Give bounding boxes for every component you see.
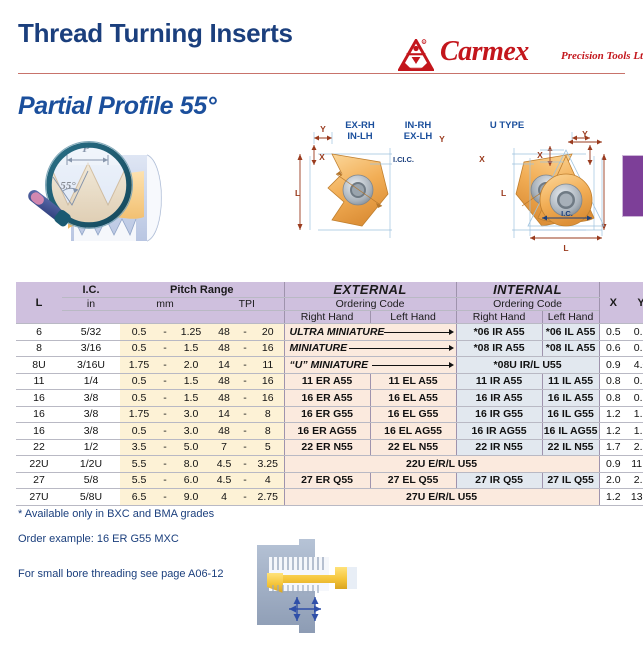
- diagram-title-in-rh-ex-lh: IN-RH EX-LH: [392, 120, 444, 142]
- cell-pitch-tpi-from: 48: [210, 390, 238, 407]
- cell-pitch-mm-dash: -: [158, 390, 172, 407]
- th-external-ordering-code: Ordering Code: [284, 298, 456, 311]
- cell-l: 16: [16, 390, 62, 407]
- page-header: Thread Turning Inserts R Carmex Precisio…: [0, 18, 643, 66]
- cell-pitch-tpi-to: 11: [252, 357, 284, 374]
- cell-internal-left-hand: 11 IL A55: [542, 373, 599, 390]
- cell-internal-left-hand: 22 IL N55: [542, 439, 599, 456]
- cell-pitch-mm-to: 2.0: [172, 357, 210, 374]
- table-row: 163/80.5-1.548-1616 ER A5516 EL A5516 IR…: [16, 390, 643, 407]
- cell-external-right-hand: 11 ER A55: [284, 373, 370, 390]
- cell-y: 1.7: [627, 406, 643, 423]
- table-row: 27U5/8U6.5-9.04-2.7527U E/R/L U551.213.7: [16, 489, 643, 506]
- cell-x: 0.6: [599, 340, 627, 357]
- cell-all-codes-note: 22U E/R/L U55: [284, 456, 599, 473]
- cell-l: 22: [16, 439, 62, 456]
- cell-internal-right-hand: 16 IR A55: [456, 390, 542, 407]
- table-row: 163/80.5-3.048-816 ER AG5516 EL AG5516 I…: [16, 423, 643, 440]
- catalog-page: Thread Turning Inserts R Carmex Precisio…: [0, 0, 643, 650]
- th-pitch-mm: mm: [120, 298, 210, 311]
- th-x: X: [599, 282, 627, 324]
- cell-ic: 5/32: [62, 324, 120, 341]
- cell-ic: 3/16U: [62, 357, 120, 374]
- cell-internal-right-hand: 11 IR A55: [456, 373, 542, 390]
- cell-x: 0.8: [599, 373, 627, 390]
- cell-ic: 3/8: [62, 423, 120, 440]
- cell-internal-left-hand: *08 IL A55: [542, 340, 599, 357]
- cell-pitch-tpi-to: 16: [252, 373, 284, 390]
- cell-pitch-tpi-dash: -: [238, 472, 252, 489]
- table-row: 111/40.5-1.548-1611 ER A5511 EL A5511 IR…: [16, 373, 643, 390]
- cell-ic: 3/8: [62, 390, 120, 407]
- cell-ic: 5/8: [62, 472, 120, 489]
- cell-all-codes-note: 27U E/R/L U55: [284, 489, 599, 506]
- cell-internal-left-hand: 16 IL AG55: [542, 423, 599, 440]
- cell-l: 22U: [16, 456, 62, 473]
- cell-ic: 3/16: [62, 340, 120, 357]
- table-header-row-1: L I.C. Pitch Range EXTERNAL INTERNAL X Y: [16, 282, 643, 298]
- cell-pitch-tpi-dash: -: [238, 456, 252, 473]
- svg-text:I.C.: I.C.: [402, 155, 414, 164]
- cell-external-note: “U” MINIATURE: [284, 357, 456, 374]
- cell-y: 4.0: [627, 357, 643, 374]
- cell-external-left-hand: 22 EL N55: [370, 439, 456, 456]
- cell-l: 16: [16, 406, 62, 423]
- header-divider: [18, 73, 625, 74]
- cell-pitch-mm-dash: -: [158, 324, 172, 341]
- cell-external-left-hand: 16 EL G55: [370, 406, 456, 423]
- cell-l: 8U: [16, 357, 62, 374]
- cell-y: 0.7: [627, 340, 643, 357]
- cell-x: 1.2: [599, 406, 627, 423]
- svg-text:X: X: [537, 150, 543, 160]
- th-ext-left-hand: Left Hand: [370, 311, 456, 324]
- svg-text:X: X: [479, 154, 485, 164]
- cell-pitch-mm-to: 6.0: [172, 472, 210, 489]
- svg-text:Y: Y: [320, 124, 326, 134]
- cell-internal-right-hand: *08 IR A55: [456, 340, 542, 357]
- cell-external-left-hand: 27 EL Q55: [370, 472, 456, 489]
- svg-text:Y: Y: [582, 129, 588, 139]
- cell-x: 2.0: [599, 472, 627, 489]
- cell-pitch-mm-dash: -: [158, 472, 172, 489]
- cell-y: 2.5: [627, 439, 643, 456]
- cell-internal-right-hand: 16 IR AG55: [456, 423, 542, 440]
- footnote-small-bore: For small bore threading see page A06-12: [18, 568, 223, 580]
- cell-pitch-mm-to: 9.0: [172, 489, 210, 506]
- cell-x: 0.5: [599, 324, 627, 341]
- cell-internal-right-hand: *06 IR A55: [456, 324, 542, 341]
- cell-pitch-tpi-to: 8: [252, 406, 284, 423]
- cell-pitch-tpi-to: 4: [252, 472, 284, 489]
- cell-pitch-mm-from: 1.75: [120, 357, 158, 374]
- table-row: 65/320.5-1.2548-20ULTRA MINIATURE*06 IR …: [16, 324, 643, 341]
- footnote-grades: * Available only in BXC and BMA grades: [18, 508, 214, 520]
- cell-pitch-tpi-dash: -: [238, 340, 252, 357]
- cell-y: 0.9: [627, 373, 643, 390]
- cell-external-right-hand: 22 ER N55: [284, 439, 370, 456]
- cell-pitch-tpi-to: 2.75: [252, 489, 284, 506]
- cell-pitch-mm-dash: -: [158, 357, 172, 374]
- cell-internal-left-hand: *06 IL A55: [542, 324, 599, 341]
- cell-pitch-mm-to: 1.5: [172, 340, 210, 357]
- cell-pitch-mm-dash: -: [158, 423, 172, 440]
- cell-pitch-tpi-from: 7: [210, 439, 238, 456]
- footnote-order-example: Order example: 16 ER G55 MXC: [18, 533, 179, 545]
- cell-external-right-hand: 16 ER G55: [284, 406, 370, 423]
- cell-pitch-tpi-dash: -: [238, 373, 252, 390]
- cell-y: 0.9: [627, 390, 643, 407]
- cell-pitch-tpi-from: 14: [210, 406, 238, 423]
- diagram-title-u-type: U TYPE: [467, 120, 547, 131]
- cell-pitch-mm-from: 6.5: [120, 489, 158, 506]
- cell-pitch-mm-from: 0.5: [120, 340, 158, 357]
- diagram-title-line1: IN-RH: [405, 120, 431, 131]
- cell-internal-right-hand: 22 IR N55: [456, 439, 542, 456]
- cell-pitch-tpi-from: 4.5: [210, 456, 238, 473]
- cell-x: 0.9: [599, 456, 627, 473]
- cell-pitch-mm-from: 1.75: [120, 406, 158, 423]
- cell-y: 0.6: [627, 324, 643, 341]
- svg-text:R: R: [423, 40, 425, 44]
- cell-pitch-mm-dash: -: [158, 456, 172, 473]
- cell-pitch-tpi-to: 8: [252, 423, 284, 440]
- cell-pitch-tpi-dash: -: [238, 423, 252, 440]
- carmex-logo: R Carmex Precision Tools Ltd.: [398, 38, 626, 72]
- cell-pitch-tpi-dash: -: [238, 357, 252, 374]
- cell-x: 1.2: [599, 423, 627, 440]
- cell-pitch-tpi-from: 48: [210, 423, 238, 440]
- cell-pitch-mm-dash: -: [158, 489, 172, 506]
- diagram-title-line2: EX-LH: [404, 131, 433, 142]
- cell-l: 27: [16, 472, 62, 489]
- cell-external-left-hand: 16 EL A55: [370, 390, 456, 407]
- svg-text:L: L: [563, 243, 568, 253]
- cell-l: 27U: [16, 489, 62, 506]
- svg-text:X: X: [319, 152, 325, 162]
- cell-pitch-tpi-dash: -: [238, 390, 252, 407]
- cell-pitch-tpi-to: 3.25: [252, 456, 284, 473]
- cell-pitch-mm-from: 5.5: [120, 472, 158, 489]
- cell-pitch-mm-to: 1.5: [172, 390, 210, 407]
- cell-external-right-hand: 16 ER AG55: [284, 423, 370, 440]
- th-ic-unit: in: [62, 298, 120, 311]
- section-title: Partial Profile 55°: [18, 92, 216, 121]
- cell-pitch-tpi-to: 16: [252, 390, 284, 407]
- cell-pitch-tpi-dash: -: [238, 439, 252, 456]
- cell-pitch-mm-from: 0.5: [120, 373, 158, 390]
- table-row: 275/85.5-6.04.5-427 ER Q5527 EL Q5527 IR…: [16, 472, 643, 489]
- cell-pitch-mm-to: 1.5: [172, 373, 210, 390]
- cell-external-left-hand: 16 EL AG55: [370, 423, 456, 440]
- th-external: EXTERNAL: [284, 282, 456, 298]
- cell-internal-left-hand: 27 IL Q55: [542, 472, 599, 489]
- cell-pitch-mm-to: 3.0: [172, 406, 210, 423]
- th-internal: INTERNAL: [456, 282, 599, 298]
- table-body: 65/320.5-1.2548-20ULTRA MINIATURE*06 IR …: [16, 324, 643, 506]
- cell-x: 0.8: [599, 390, 627, 407]
- cell-pitch-tpi-dash: -: [238, 324, 252, 341]
- svg-text:L: L: [295, 188, 300, 198]
- cell-internal-note: *08U IR/L U55: [456, 357, 599, 374]
- cell-pitch-tpi-from: 4.5: [210, 472, 238, 489]
- cell-pitch-mm-from: 3.5: [120, 439, 158, 456]
- page-title: Thread Turning Inserts: [18, 18, 293, 49]
- th-pitch-range: Pitch Range: [120, 282, 284, 298]
- cell-y: 1.7: [627, 423, 643, 440]
- cell-pitch-mm-dash: -: [158, 406, 172, 423]
- th-ic: I.C.: [62, 282, 120, 298]
- cell-ic: 5/8U: [62, 489, 120, 506]
- table-header-row-3: Right Hand Left Hand Right Hand Left Han…: [16, 311, 643, 324]
- cell-pitch-tpi-dash: -: [238, 489, 252, 506]
- cell-pitch-mm-to: 8.0: [172, 456, 210, 473]
- table-row: 8U3/16U1.75-2.014-11“U” MINIATURE*08U IR…: [16, 357, 643, 374]
- cell-x: 1.2: [599, 489, 627, 506]
- cell-pitch-mm-dash: -: [158, 340, 172, 357]
- th-int-left-hand: Left Hand: [542, 311, 599, 324]
- table-row: 221/23.5-5.07-522 ER N5522 EL N5522 IR N…: [16, 439, 643, 456]
- svg-text:I.C.: I.C.: [561, 209, 573, 218]
- table-header-row-2: in mm TPI Ordering Code Ordering Code: [16, 298, 643, 311]
- cell-l: 8: [16, 340, 62, 357]
- diagram-title-ex-rh-in-lh: EX-RH IN-LH: [334, 120, 386, 142]
- th-l: L: [16, 282, 62, 324]
- cell-internal-right-hand: 16 IR G55: [456, 406, 542, 423]
- magnifier-thread-profile-illustration: P 55°: [16, 133, 206, 263]
- cell-pitch-mm-dash: -: [158, 439, 172, 456]
- cell-ic: 3/8: [62, 406, 120, 423]
- external-note-text: “U” MINIATURE: [285, 359, 369, 371]
- cell-x: 0.9: [599, 357, 627, 374]
- svg-text:L: L: [501, 188, 506, 198]
- internal-threading-tool-illustration: [243, 537, 371, 642]
- cell-pitch-tpi-from: 4: [210, 489, 238, 506]
- cell-external-note: MINIATURE: [284, 340, 456, 357]
- diagram-title-line1: EX-RH: [345, 120, 375, 131]
- cell-pitch-tpi-dash: -: [238, 406, 252, 423]
- cell-pitch-tpi-to: 5: [252, 439, 284, 456]
- cell-x: 1.7: [599, 439, 627, 456]
- cell-external-note: ULTRA MINIATURE: [284, 324, 456, 341]
- cell-pitch-mm-from: 5.5: [120, 456, 158, 473]
- cell-ic: 1/2: [62, 439, 120, 456]
- th-int-right-hand: Right Hand: [456, 311, 542, 324]
- cell-l: 11: [16, 373, 62, 390]
- cell-pitch-tpi-from: 48: [210, 340, 238, 357]
- logo-tagline: Precision Tools Ltd.: [561, 50, 643, 62]
- cell-l: 6: [16, 324, 62, 341]
- cell-ic: 1/4: [62, 373, 120, 390]
- cell-pitch-mm-from: 0.5: [120, 390, 158, 407]
- th-ext-right-hand: Right Hand: [284, 311, 370, 324]
- cell-external-right-hand: 16 ER A55: [284, 390, 370, 407]
- th-internal-ordering-code: Ordering Code: [456, 298, 599, 311]
- insert-specification-table: L I.C. Pitch Range EXTERNAL INTERNAL X Y…: [16, 282, 643, 506]
- cell-pitch-tpi-to: 16: [252, 340, 284, 357]
- cell-pitch-mm-to: 3.0: [172, 423, 210, 440]
- cell-y: 13.7: [627, 489, 643, 506]
- cell-pitch-mm-from: 0.5: [120, 423, 158, 440]
- external-note-text: ULTRA MINIATURE: [285, 326, 385, 338]
- table-row: 83/160.5-1.548-16MINIATURE*08 IR A55*08 …: [16, 340, 643, 357]
- section-color-tab: [622, 155, 643, 217]
- diagram-title-line2: IN-LH: [347, 131, 372, 142]
- cell-y: 2.9: [627, 472, 643, 489]
- cell-internal-left-hand: 16 IL A55: [542, 390, 599, 407]
- cell-pitch-mm-from: 0.5: [120, 324, 158, 341]
- table-row: 22U1/2U5.5-8.04.5-3.2522U E/R/L U550.911…: [16, 456, 643, 473]
- diagram-title-line1: U TYPE: [490, 120, 524, 131]
- cell-pitch-tpi-from: 48: [210, 373, 238, 390]
- cell-internal-left-hand: 16 IL G55: [542, 406, 599, 423]
- cell-y: 11.0: [627, 456, 643, 473]
- cell-pitch-tpi-from: 48: [210, 324, 238, 341]
- cell-pitch-tpi-from: 14: [210, 357, 238, 374]
- th-pitch-tpi: TPI: [210, 298, 284, 311]
- cell-pitch-mm-to: 1.25: [172, 324, 210, 341]
- cell-pitch-tpi-to: 20: [252, 324, 284, 341]
- cell-external-left-hand: 11 EL A55: [370, 373, 456, 390]
- cell-l: 16: [16, 423, 62, 440]
- logo-wordmark: Carmex: [440, 36, 529, 68]
- external-note-text: MINIATURE: [285, 342, 348, 354]
- cell-internal-right-hand: 27 IR Q55: [456, 472, 542, 489]
- th-y: Y: [627, 282, 643, 324]
- carmex-triangle-logo-icon: R: [398, 39, 434, 71]
- cell-external-right-hand: 27 ER Q55: [284, 472, 370, 489]
- cell-ic: 1/2U: [62, 456, 120, 473]
- table-row: 163/81.75-3.014-816 ER G5516 EL G5516 IR…: [16, 406, 643, 423]
- cell-pitch-mm-dash: -: [158, 373, 172, 390]
- cell-pitch-mm-to: 5.0: [172, 439, 210, 456]
